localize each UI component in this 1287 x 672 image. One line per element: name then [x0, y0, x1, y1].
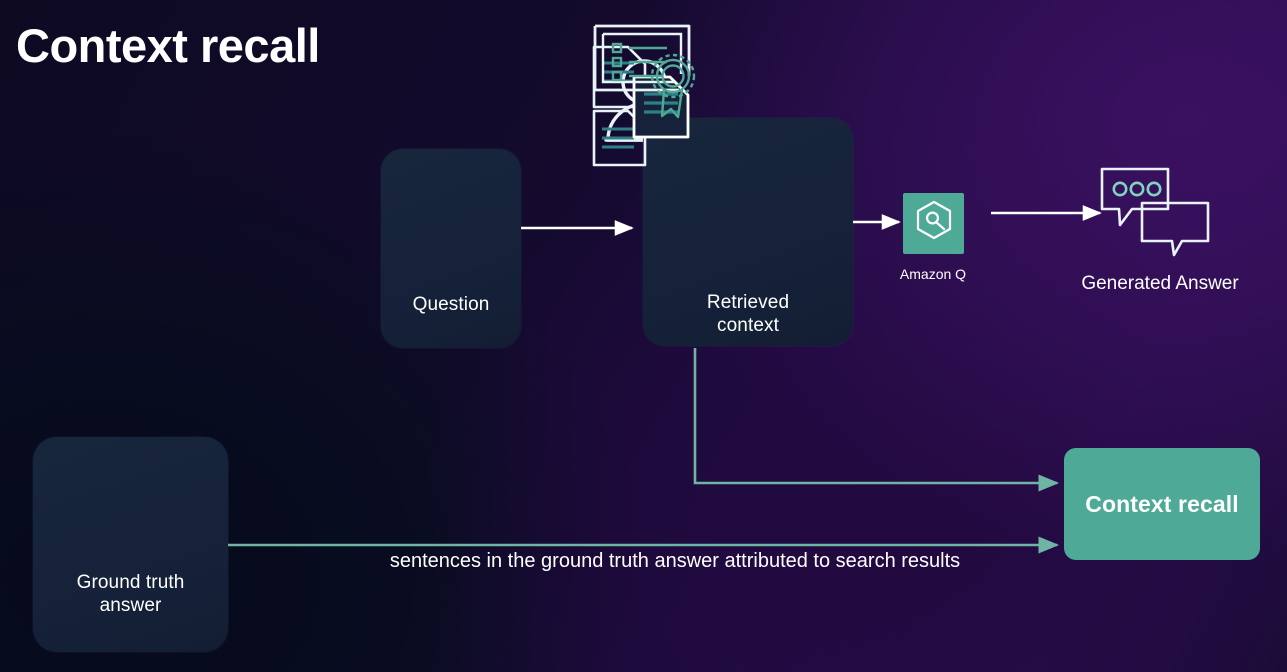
retrieved-context-label: Retrieved context — [643, 291, 853, 337]
ground-truth-label-line1: Ground truth — [77, 572, 185, 593]
ground-truth-label: Ground truth answer — [33, 571, 228, 617]
page-title: Context recall — [16, 14, 320, 78]
chat-bubbles-icon — [1098, 163, 1218, 268]
context-recall-result-box[interactable]: Context recall — [1064, 448, 1260, 560]
caption-text: sentences in the ground truth answer att… — [330, 548, 1020, 574]
context-recall-result-label: Context recall — [1085, 491, 1239, 518]
certificate-award-icon — [579, 16, 709, 131]
diagram-canvas: Context recall Question — [0, 0, 1287, 672]
amazon-q-tile[interactable] — [903, 193, 964, 254]
question-card[interactable] — [381, 149, 521, 348]
retrieved-context-label-line1: Retrieved — [707, 292, 789, 313]
generated-answer-label: Generated Answer — [1040, 273, 1280, 295]
arrow-retrieved-context-to-context-recall — [695, 348, 1057, 483]
amazon-q-hexagon-icon — [911, 198, 957, 249]
amazon-q-label: Amazon Q — [873, 266, 993, 282]
retrieved-context-label-line2: context — [717, 315, 779, 336]
ground-truth-card[interactable] — [33, 437, 228, 652]
question-label: Question — [381, 293, 521, 316]
ground-truth-label-line2: answer — [100, 595, 162, 616]
